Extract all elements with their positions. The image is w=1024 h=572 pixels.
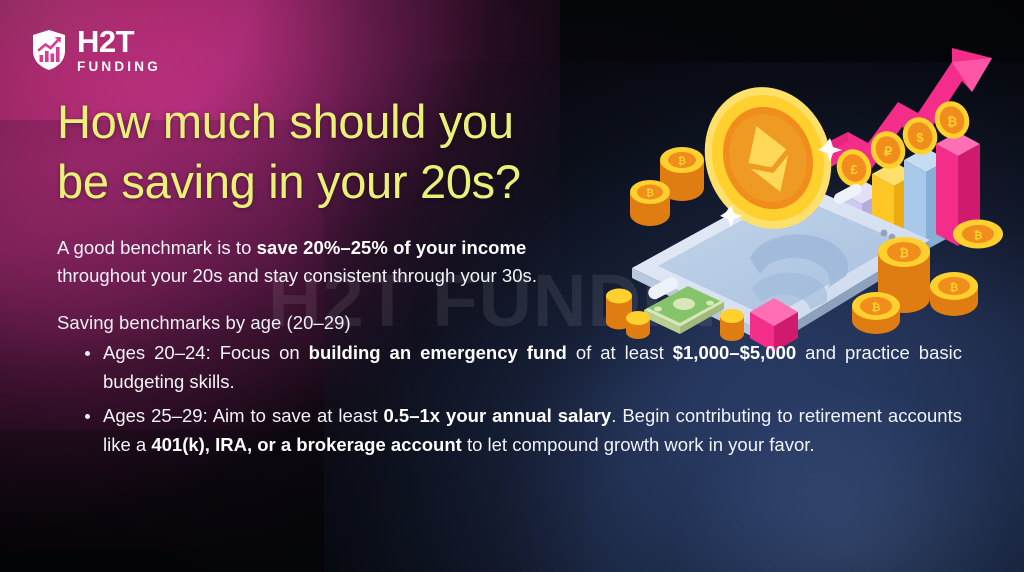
lede-paragraph: A good benchmark is to save 20%–25% of y…: [57, 234, 602, 290]
bitcoin-coin-stack-left: ₿ ₿: [630, 147, 704, 226]
svg-text:£: £: [850, 162, 858, 177]
body-copy: A good benchmark is to save 20%–25% of y…: [57, 234, 962, 460]
lede-seg-1: A good benchmark is to: [57, 237, 257, 258]
headline-line-1: How much should you: [57, 95, 514, 148]
lede-bold-1: save 20%–25% of your income: [257, 237, 527, 258]
page-title: How much should you be saving in your 20…: [57, 92, 521, 212]
bullet-2-seg-1: Ages 25–29: Aim to save at least: [103, 405, 383, 426]
bullet-1-seg-1: Ages 20–24: Focus on: [103, 342, 309, 363]
list-item: Ages 20–24: Focus on building an emergen…: [57, 339, 962, 397]
svg-text:₿: ₿: [974, 230, 983, 242]
logo-name-secondary: FUNDING: [77, 60, 161, 74]
benchmarks-label: Saving benchmarks by age (20–29): [57, 312, 962, 334]
logo-name-primary: H2T: [77, 26, 161, 57]
svg-text:₽: ₽: [884, 144, 893, 159]
bullet-1-bold-1: building an emergency fund: [309, 342, 567, 363]
shield-chart-arrow-icon: [30, 29, 68, 71]
bullet-2-seg-3: to let compound growth work in your favo…: [462, 434, 815, 455]
svg-text:$: $: [916, 130, 924, 145]
bullet-1-bold-2: $1,000–$5,000: [673, 342, 796, 363]
list-item: Ages 25–29: Aim to save at least 0.5–1x …: [57, 402, 962, 460]
lede-seg-2: throughout your 20s and stay consistent …: [57, 265, 537, 286]
svg-text:₿: ₿: [678, 155, 686, 167]
bullet-2-bold-2: 401(k), IRA, or a brokerage account: [151, 434, 462, 455]
bullet-1-seg-2: of at least: [567, 342, 673, 363]
headline-line-2: be saving in your 20s?: [57, 152, 521, 212]
brand-logo[interactable]: H2T FUNDING: [30, 26, 161, 74]
benchmarks-list: Ages 20–24: Focus on building an emergen…: [57, 339, 962, 459]
svg-text:₿: ₿: [646, 187, 654, 199]
logo-wordmark: H2T FUNDING: [77, 26, 161, 74]
bullet-2-bold-1: 0.5–1x your annual salary: [383, 405, 611, 426]
svg-text:₿: ₿: [947, 114, 958, 129]
bullet-dot-icon: [85, 414, 90, 419]
bullet-dot-icon: [85, 351, 90, 356]
